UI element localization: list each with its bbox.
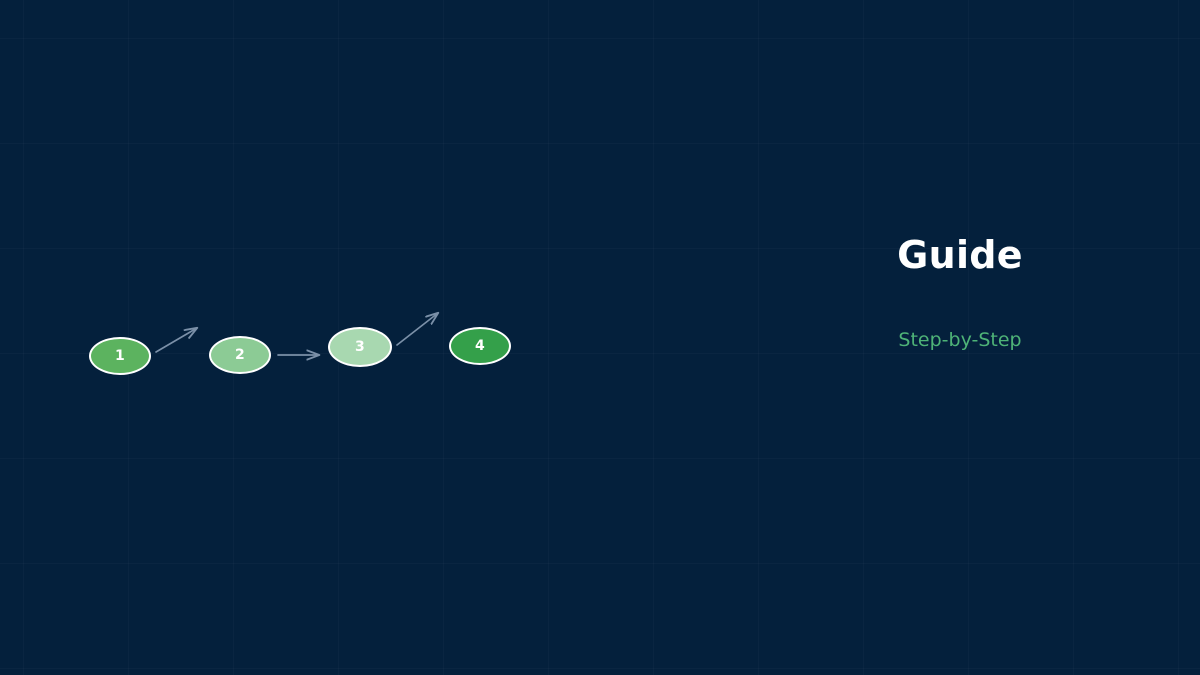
flow-node-3-label: 3 [355, 340, 365, 354]
arrow-node3-to-node4 [397, 313, 438, 345]
flow-node-1-label: 1 [115, 349, 125, 363]
flow-node-2-label: 2 [235, 348, 245, 362]
flow-node-2[interactable]: 2 [209, 336, 271, 374]
page-title: Guide [760, 235, 1160, 277]
text-block: Guide Step-by-Step [760, 235, 1160, 352]
flow-node-4-label: 4 [475, 339, 485, 353]
arrow-node1-to-node2 [156, 328, 197, 352]
diagram-canvas: 1 2 3 4 Guide Step-by-Step [0, 0, 1200, 675]
flow-node-1[interactable]: 1 [89, 337, 151, 375]
page-subtitle: Step-by-Step [760, 277, 1160, 352]
flow-node-3[interactable]: 3 [328, 327, 392, 367]
flow-node-4[interactable]: 4 [449, 327, 511, 365]
